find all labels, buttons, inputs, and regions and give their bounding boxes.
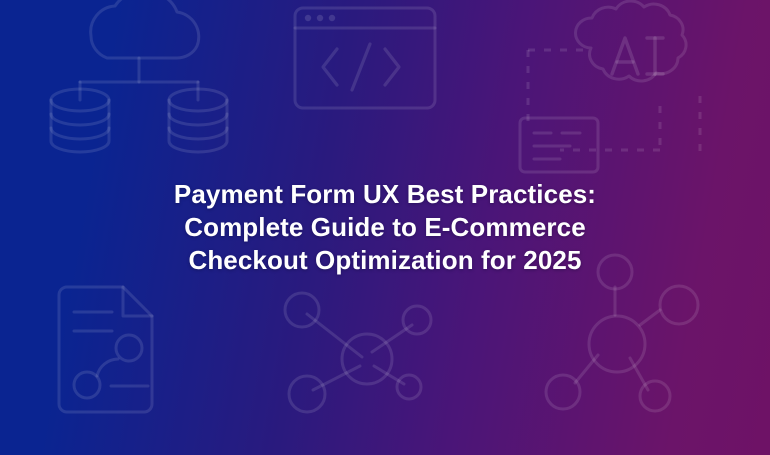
title-line-2: Complete Guide to E-Commerce bbox=[75, 211, 695, 244]
title-line-1: Payment Form UX Best Practices: bbox=[75, 178, 695, 211]
title-line-3: Checkout Optimization for 2025 bbox=[75, 244, 695, 277]
page-title: Payment Form UX Best Practices: Complete… bbox=[75, 178, 695, 277]
article-hero-banner: .ln { fill: none; stroke: #ffffff; strok… bbox=[0, 0, 770, 455]
headline-container: Payment Form UX Best Practices: Complete… bbox=[0, 0, 770, 455]
